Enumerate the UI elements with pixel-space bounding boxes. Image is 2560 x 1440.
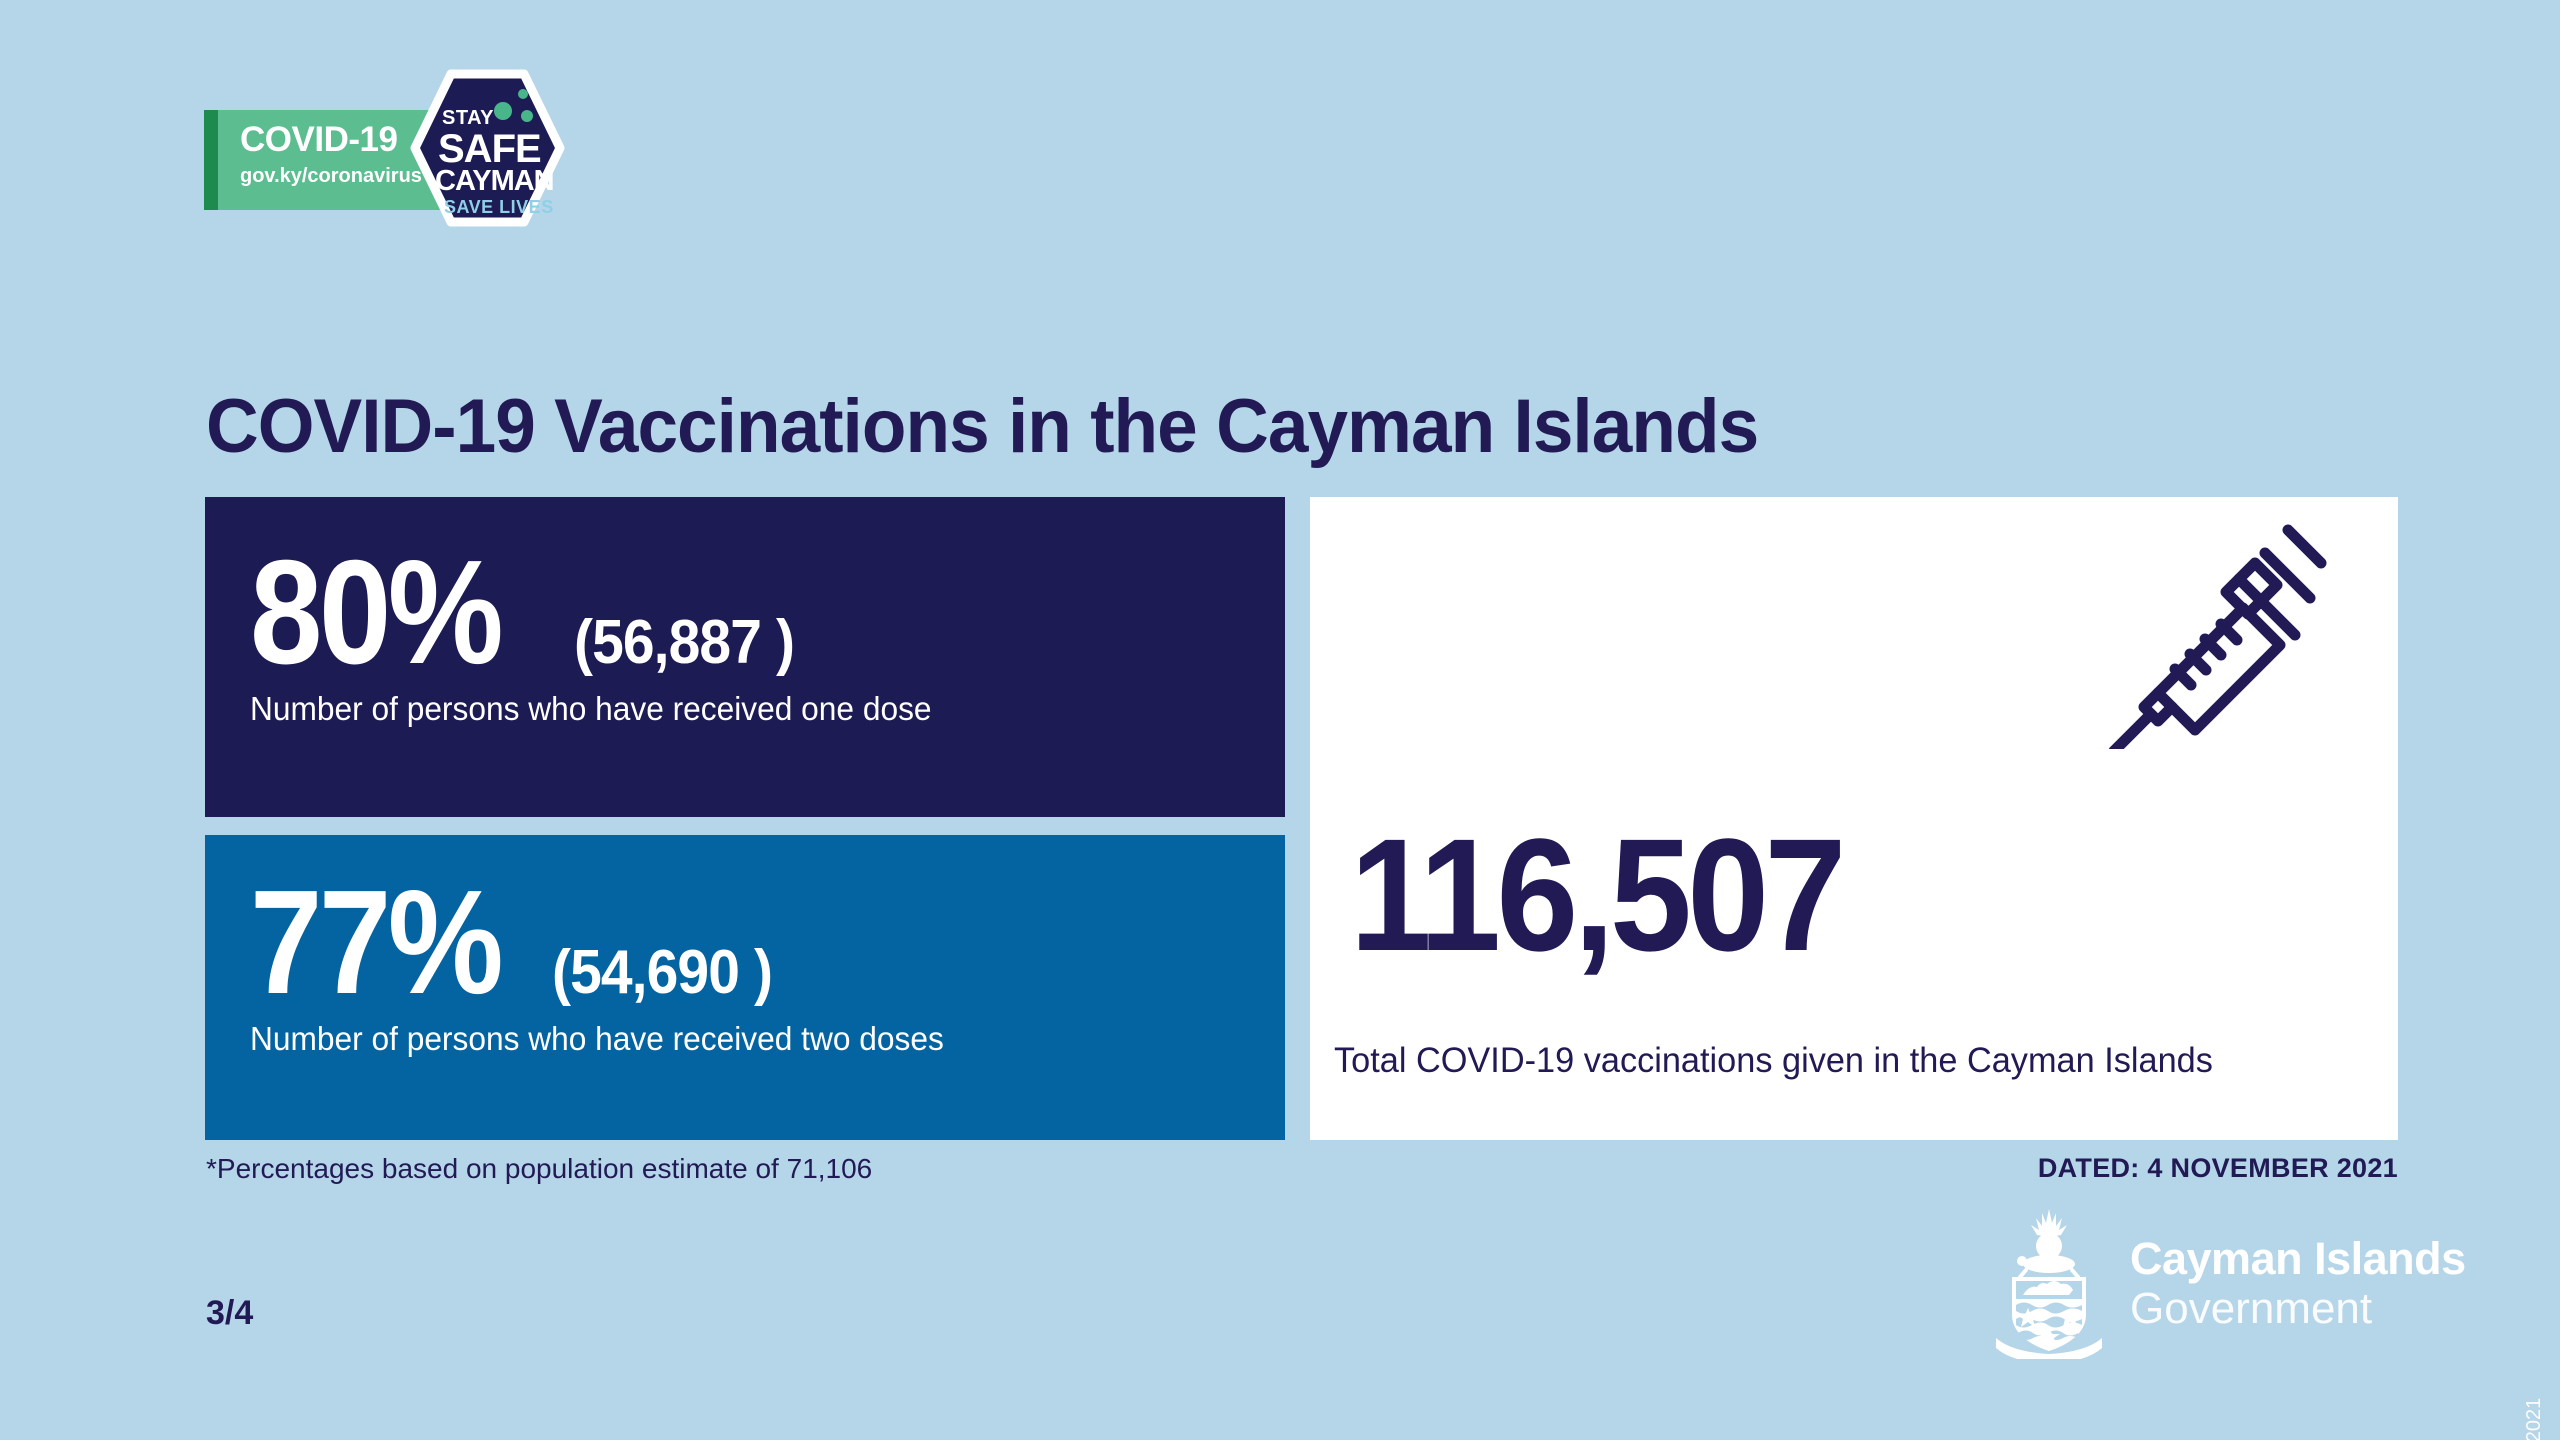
stat-count-two-doses: (54,690 ): [552, 942, 772, 1004]
percentages-footnote: *Percentages based on population estimat…: [206, 1155, 872, 1183]
svg-text:SAVE LIVES: SAVE LIVES: [444, 197, 554, 217]
government-wordmark-line2: Government: [2130, 1287, 2466, 1331]
stat-caption-one-dose: Number of persons who have received one …: [250, 691, 1215, 727]
stat-percent-two-doses: 77%: [250, 875, 500, 1011]
stat-count-one-dose: (56,887 ): [574, 612, 794, 674]
government-wordmark: Cayman Islands Government: [2130, 1236, 2466, 1331]
dated-label: DATED: 4 NOVEMBER 2021: [2038, 1155, 2398, 1182]
banner-text-group: COVID-19 gov.ky/coronavirus: [240, 122, 422, 186]
stat-card-two-doses-content: 77% (54,690 ) Number of persons who have…: [250, 875, 1255, 1057]
covid-stay-safe-logo-lockup: COVID-19 gov.ky/coronavirus STAY SAFE CA…: [204, 68, 604, 228]
stat-card-two-doses: 77% (54,690 ) Number of persons who have…: [205, 835, 1285, 1140]
page-indicator: 3/4: [206, 1296, 253, 1330]
government-wordmark-line1: Cayman Islands: [2130, 1236, 2466, 1281]
coronavirus-url-label: gov.ky/coronavirus: [240, 166, 422, 186]
stat-card-one-dose-figures: 80% (56,887 ): [250, 545, 1255, 681]
stat-card-one-dose-content: 80% (56,887 ) Number of persons who have…: [250, 545, 1255, 727]
stay-safe-cayman-badge-icon: STAY SAFE CAYMAN SAVE LIVES: [410, 68, 565, 228]
banner-accent-stripe: [204, 110, 218, 210]
total-vaccinations-caption: Total COVID-19 vaccinations given in the…: [1334, 1042, 2213, 1081]
cayman-islands-government-logo: Cayman Islands Government: [1990, 1203, 2410, 1363]
stat-card-one-dose: 80% (56,887 ) Number of persons who have…: [205, 497, 1285, 817]
covid-19-label: COVID-19: [240, 122, 422, 157]
copyright-credit: graphics@gov.ky | © Crown Copyright 2021: [2524, 1398, 2544, 1440]
stat-caption-two-doses: Number of persons who have received two …: [250, 1021, 1215, 1057]
svg-text:STAY: STAY: [442, 107, 494, 129]
stat-card-two-doses-figures: 77% (54,690 ): [250, 875, 1255, 1011]
coat-of-arms-icon: [1990, 1207, 2108, 1359]
total-vaccinations-number: 116,507: [1350, 815, 1842, 975]
stat-percent-one-dose: 80%: [250, 545, 500, 681]
infographic-poster: COVID-19 gov.ky/coronavirus STAY SAFE CA…: [0, 0, 2560, 1440]
total-vaccinations-panel: 116,507 Total COVID-19 vaccinations give…: [1310, 497, 2398, 1140]
syringe-icon: [2102, 519, 2332, 749]
page-title: COVID-19 Vaccinations in the Cayman Isla…: [206, 389, 1758, 465]
svg-text:CAYMAN: CAYMAN: [435, 165, 554, 197]
